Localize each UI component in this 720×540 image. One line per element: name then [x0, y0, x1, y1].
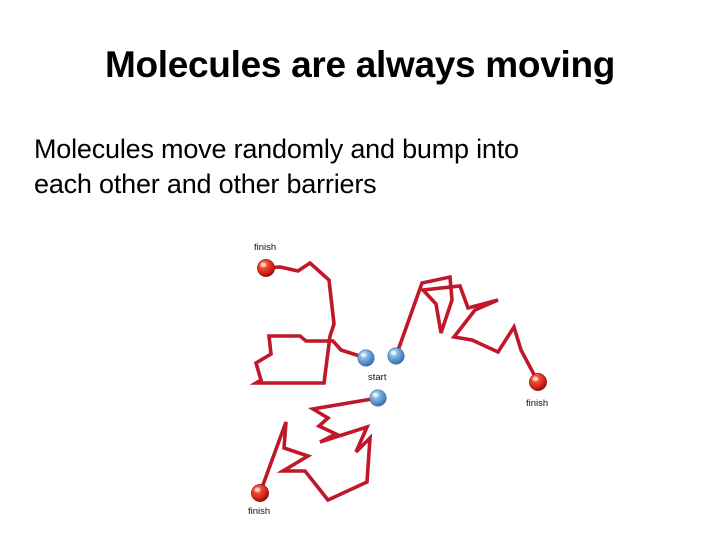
- body-line: Molecules move randomly and bump into: [34, 132, 694, 167]
- label-finish-right: finish: [526, 398, 548, 409]
- walk-paths-group: [256, 263, 538, 500]
- slide: Molecules are always moving Molecules mo…: [0, 0, 720, 540]
- finish-particle: [257, 259, 274, 276]
- walk-path-right: [396, 277, 538, 382]
- walk-path-bottom: [260, 398, 378, 500]
- walk-labels-group: finishstartfinishfinish: [248, 242, 548, 517]
- label-finish-bottom-left: finish: [248, 506, 270, 517]
- sphere-highlight: [373, 393, 379, 397]
- sphere-highlight: [361, 353, 367, 357]
- walk-path-left: [256, 263, 366, 383]
- random-walk-svg: finishstartfinishfinish: [228, 228, 576, 528]
- page-title: Molecules are always moving: [0, 43, 720, 87]
- finish-particle: [529, 373, 546, 390]
- slide-body-text: Molecules move randomly and bump into ea…: [34, 132, 694, 202]
- start-particle: [388, 348, 404, 364]
- finish-particle: [251, 484, 268, 501]
- sphere-highlight: [254, 488, 260, 492]
- body-line: each other and other barriers: [34, 167, 694, 202]
- sphere-highlight: [532, 377, 538, 381]
- label-finish-top-left: finish: [254, 242, 276, 253]
- sphere-highlight: [260, 263, 266, 267]
- start-particle: [370, 390, 386, 406]
- random-walk-diagram: finishstartfinishfinish: [228, 228, 576, 528]
- start-particle: [358, 350, 374, 366]
- label-start: start: [368, 372, 387, 383]
- sphere-highlight: [391, 351, 397, 355]
